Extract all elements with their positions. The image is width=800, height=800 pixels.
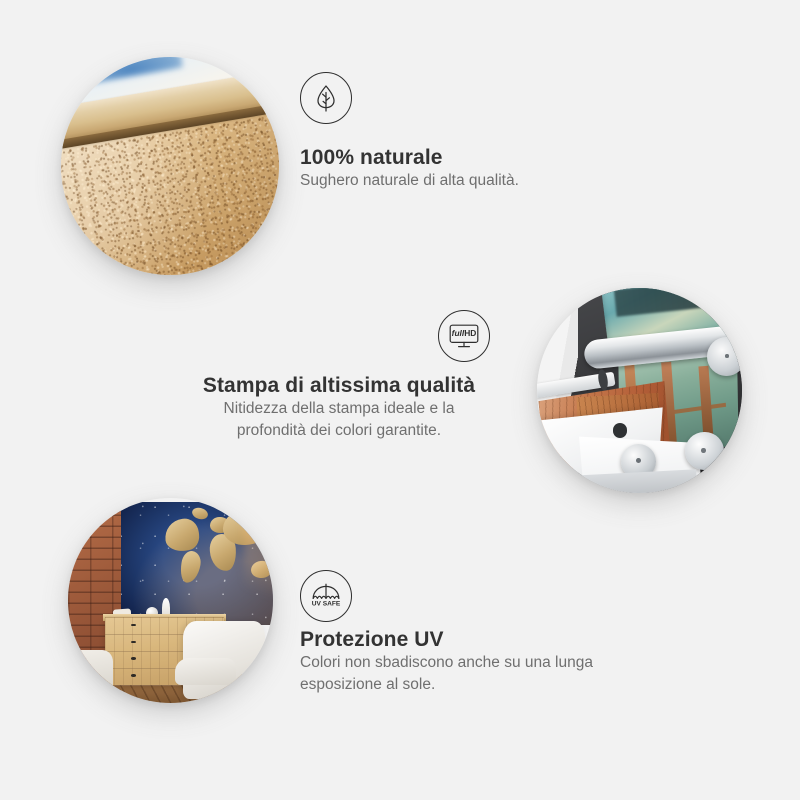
cork-board-closeup-photo [61, 57, 279, 275]
armchair-left [68, 650, 113, 703]
uv-umbrella-icon: UV SAFE [300, 570, 352, 622]
feature-print-subtext-line2: profondità dei colori garantite. [188, 420, 490, 442]
printer-knob [613, 423, 627, 437]
feature-uv-text: Protezione UV Colori non sbadiscono anch… [300, 628, 593, 697]
printer-roller-cap [707, 337, 742, 376]
feature-natural-subtext: Sughero naturale di alta qualità. [300, 170, 519, 192]
fullhd-monitor-icon: fullHD [438, 310, 490, 362]
feature-print-subtext-line1: Nitidezza della stampa ideale e la [188, 398, 490, 420]
feature-natural-text: 100% naturale Sughero naturale di alta q… [300, 146, 519, 192]
feature-uv-subtext-line2: esposizione al sole. [300, 674, 593, 696]
leaf-icon [300, 72, 352, 124]
printed-rail-horizontal [669, 402, 726, 414]
warm-light-glow [244, 510, 273, 625]
armchair-arm [175, 658, 237, 685]
printer-wheel-b [685, 432, 724, 471]
interior-photo-inner [68, 498, 273, 703]
dresser-knob [131, 674, 136, 677]
feature-print-text: Stampa di altissima qualità Nitidezza de… [188, 374, 490, 443]
printer-photo-inner [537, 288, 742, 493]
interior-world-map-photo [68, 498, 273, 703]
cork-photo-inner [61, 57, 279, 275]
svg-text:UV SAFE: UV SAFE [312, 601, 341, 608]
dresser-knob [131, 641, 136, 644]
product-features-banner: 100% naturale Sughero naturale di alta q… [0, 0, 800, 800]
feature-natural-heading: 100% naturale [300, 146, 519, 170]
feature-uv-subtext-line1: Colori non sbadiscono anche su una lunga [300, 652, 593, 674]
printing-machine-photo [537, 288, 742, 493]
feature-print-heading: Stampa di altissima qualità [188, 374, 490, 398]
feature-uv-heading: Protezione UV [300, 628, 593, 652]
svg-text:fullHD: fullHD [452, 328, 477, 338]
